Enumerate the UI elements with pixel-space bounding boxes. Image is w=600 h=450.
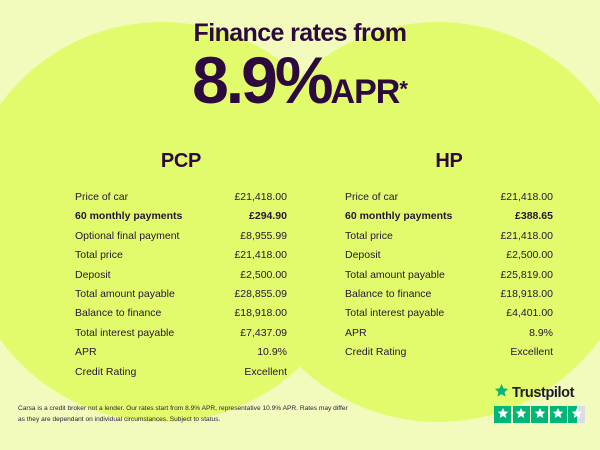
trustpilot-star-filled	[531, 406, 548, 423]
row-label: 60 monthly payments	[75, 207, 182, 226]
row-value: £388.65	[515, 207, 553, 226]
trustpilot-star-filled	[513, 406, 530, 423]
row-value: £294.90	[249, 207, 287, 226]
table-row: APR10.9%	[75, 343, 287, 362]
table-row: Total price£21,418.00	[345, 227, 553, 246]
row-value: £2,500.00	[506, 246, 553, 265]
trustpilot-rating[interactable]: Trustpilot	[494, 383, 589, 423]
row-value: £21,418.00	[500, 188, 553, 207]
finance-column-hp: HP Price of car£21,418.0060 monthly paym…	[345, 150, 553, 363]
table-row: Price of car£21,418.00	[345, 188, 553, 207]
trustpilot-wordmark: Trustpilot	[512, 385, 574, 401]
row-label: Price of car	[345, 188, 398, 207]
table-row: Total interest payable£7,437.09	[75, 324, 287, 343]
finance-column-pcp: PCP Price of car£21,418.0060 monthly pay…	[75, 150, 287, 382]
pcp-rows: Price of car£21,418.0060 monthly payment…	[75, 188, 287, 382]
row-value: £21,418.00	[234, 246, 287, 265]
table-row: Credit RatingExcellent	[345, 343, 553, 362]
row-label: Balance to finance	[75, 304, 161, 323]
rate-value: 8.9%	[192, 43, 330, 117]
row-value: £7,437.09	[240, 324, 287, 343]
trustpilot-brand: Trustpilot	[494, 383, 589, 403]
row-label: Deposit	[75, 266, 111, 285]
row-value: £2,500.00	[240, 266, 287, 285]
row-value: Excellent	[510, 343, 553, 362]
table-row: Total interest payable£4,401.00	[345, 304, 553, 323]
row-value: £21,418.00	[234, 188, 287, 207]
row-label: Total price	[345, 227, 393, 246]
row-label: Deposit	[345, 246, 381, 265]
row-label: Credit Rating	[75, 363, 136, 382]
table-row: Deposit£2,500.00	[75, 266, 287, 285]
row-value: £8,955.99	[240, 227, 287, 246]
row-value: £18,918.00	[500, 285, 553, 304]
star-icon	[515, 406, 527, 423]
star-icon	[497, 406, 509, 423]
table-row: Optional final payment£8,955.99	[75, 227, 287, 246]
table-row: Credit RatingExcellent	[75, 363, 287, 382]
row-value: £4,401.00	[506, 304, 553, 323]
row-label: Price of car	[75, 188, 128, 207]
row-value: £18,918.00	[234, 304, 287, 323]
row-label: APR	[75, 343, 97, 362]
table-row: APR8.9%	[345, 324, 553, 343]
row-value: 10.9%	[257, 343, 287, 362]
trustpilot-star-row	[494, 406, 589, 423]
disclaimer-text: Carsa is a credit broker not a lender. O…	[18, 404, 348, 425]
table-row: Price of car£21,418.00	[75, 188, 287, 207]
table-row: Total amount payable£25,819.00	[345, 266, 553, 285]
row-value: Excellent	[244, 363, 287, 382]
row-label: Total amount payable	[75, 285, 175, 304]
row-label: Balance to finance	[345, 285, 431, 304]
table-row: 60 monthly payments£294.90	[75, 207, 287, 226]
star-icon	[534, 406, 546, 423]
row-value: £25,819.00	[500, 266, 553, 285]
hp-rows: Price of car£21,418.0060 monthly payment…	[345, 188, 553, 363]
trustpilot-star-filled	[550, 406, 567, 423]
asterisk-marker: *	[399, 77, 408, 102]
table-row: Total price£21,418.00	[75, 246, 287, 265]
trustpilot-star-partial	[568, 406, 585, 423]
row-value: £21,418.00	[500, 227, 553, 246]
row-label: Total interest payable	[345, 304, 444, 323]
row-value: 8.9%	[529, 324, 553, 343]
row-label: Total interest payable	[75, 324, 174, 343]
star-icon	[552, 406, 564, 423]
table-row: Balance to finance£18,918.00	[75, 304, 287, 323]
table-row: Balance to finance£18,918.00	[345, 285, 553, 304]
column-title-hp: HP	[345, 150, 553, 173]
column-title-pcp: PCP	[75, 150, 287, 173]
rate-apr-label: APR	[331, 73, 400, 111]
row-label: Credit Rating	[345, 343, 406, 362]
finance-rates-card: Finance rates from 8.9%APR* PCP Price of…	[0, 0, 600, 450]
trustpilot-star-icon	[494, 383, 509, 403]
table-row: 60 monthly payments£388.65	[345, 207, 553, 226]
row-label: 60 monthly payments	[345, 207, 452, 226]
row-label: Optional final payment	[75, 227, 179, 246]
headline-rate: 8.9%APR*	[0, 47, 600, 113]
table-row: Total amount payable£28,855.09	[75, 285, 287, 304]
row-value: £28,855.09	[234, 285, 287, 304]
trustpilot-star-filled	[494, 406, 511, 423]
row-label: Total amount payable	[345, 266, 445, 285]
table-row: Deposit£2,500.00	[345, 246, 553, 265]
row-label: Total price	[75, 246, 123, 265]
row-label: APR	[345, 324, 367, 343]
